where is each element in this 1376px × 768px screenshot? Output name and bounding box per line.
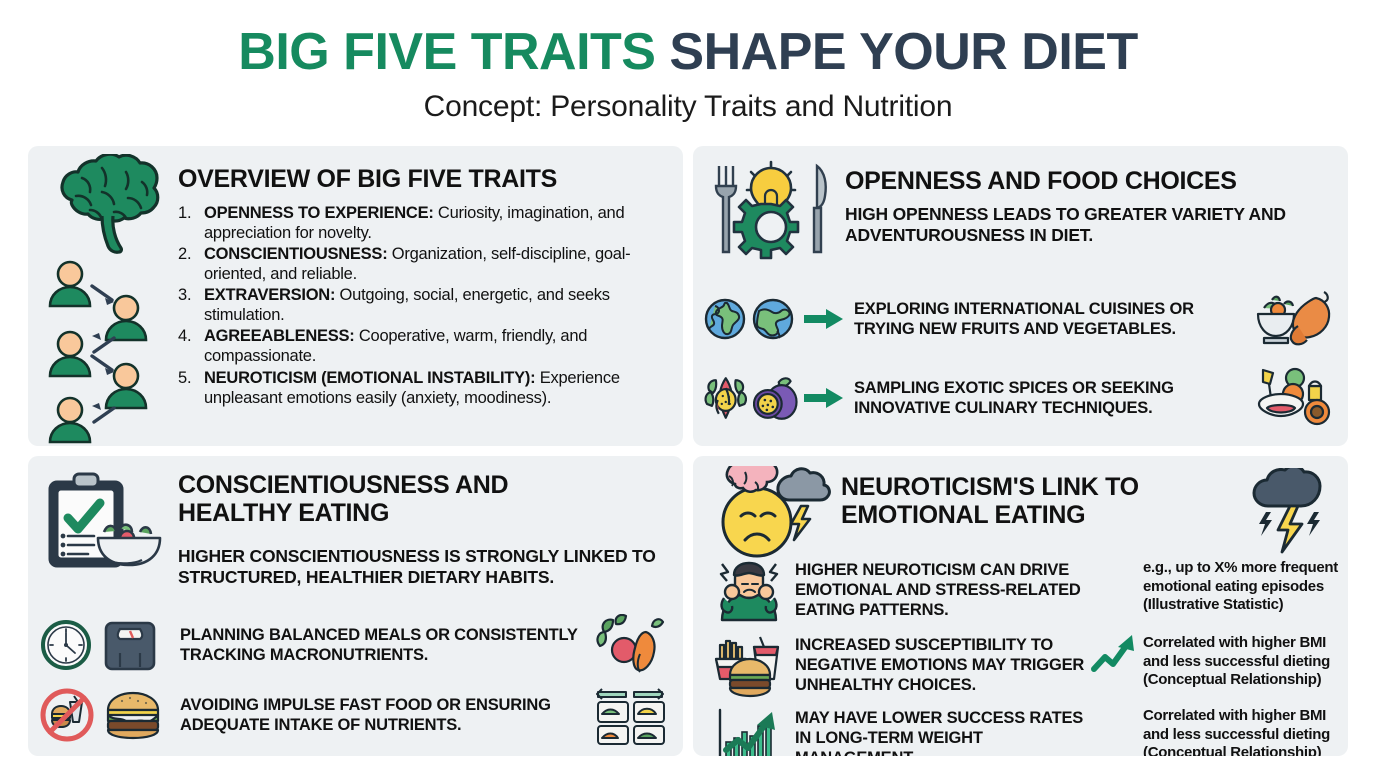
exotic-fruit-pair (703, 374, 798, 422)
conscientiousness-lede: HIGHER CONSCIENTIOUSNESS IS STRONGLY LIN… (178, 546, 669, 589)
passionfruit-icon (753, 374, 799, 422)
header: BIG FIVE TRAITS SHAPE YOUR DIET Concept:… (0, 0, 1376, 124)
fast-food-combo-icon (703, 631, 795, 699)
openness-row-text: EXPLORING INTERNATIONAL CUISINES OR TRYI… (850, 299, 1250, 339)
page-title: BIG FIVE TRAITS SHAPE YOUR DIET (0, 26, 1376, 78)
conscientiousness-row: AVOIDING IMPULSE FAST FOOD OR ENSURING A… (40, 684, 675, 746)
openness-row-text: SAMPLING EXOTIC SPICES OR SEEKING INNOVA… (850, 378, 1250, 418)
trait-name: EXTRAVERSION: (204, 286, 335, 304)
sad-face-brain-storm-icon (703, 466, 833, 564)
panel-overview: OVERVIEW OF BIG FIVE TRAITS OPENNESS TO … (28, 146, 683, 446)
trait-name: OPENNESS TO EXPERIENCE: (204, 204, 434, 222)
list-item: AGREEABLENESS: Cooperative, warm, friend… (178, 326, 673, 366)
neuroticism-row-note: Correlated with higher BMI and less succ… (1143, 704, 1340, 756)
globe-europe-africa-icon (751, 297, 795, 341)
neuroticism-row-note: e.g., up to X% more frequent emotional e… (1143, 556, 1340, 615)
fork-bulb-gear-knife-icon (705, 158, 837, 262)
page-subtitle: Concept: Personality Traits and Nutritio… (0, 90, 1376, 124)
title-green-part: BIG FIVE TRAITS (238, 23, 655, 81)
list-item: OPENNESS TO EXPERIENCE: Curiosity, imagi… (178, 203, 673, 243)
clipboard-checklist-salad-icon (42, 470, 164, 570)
brain-icon (42, 154, 170, 254)
trend-up-arrow-icon (1085, 631, 1143, 673)
clock-scale-pair (40, 619, 180, 671)
panel-conscientiousness: CONSCIENTIOUSNESS AND HEALTHY EATING HIG… (28, 456, 683, 756)
dragonfruit-icon (703, 374, 749, 422)
conscientiousness-heading: CONSCIENTIOUSNESS AND HEALTHY EATING (178, 472, 673, 527)
infographic-page: BIG FIVE TRAITS SHAPE YOUR DIET Concept:… (0, 0, 1376, 768)
neuroticism-row-text: HIGHER NEUROTICISM CAN DRIVE EMOTIONAL A… (795, 556, 1085, 620)
weight-scale-icon (102, 619, 158, 671)
people-network-icon (42, 258, 170, 446)
conscientiousness-row-text: AVOIDING IMPULSE FAST FOOD OR ENSURING A… (180, 695, 589, 735)
overview-heading: OVERVIEW OF BIG FIVE TRAITS (178, 166, 673, 194)
burger-icon (104, 690, 162, 740)
neuroticism-row: HIGHER NEUROTICISM CAN DRIVE EMOTIONAL A… (703, 556, 1340, 624)
arrow-right-icon (798, 308, 850, 330)
neuroticism-heading: NEUROTICISM'S LINK TO EMOTIONAL EATING (841, 474, 1261, 529)
clock-icon (40, 619, 92, 671)
openness-lede-strong: HIGH OPENNESS (845, 204, 988, 224)
trait-name: CONSCIENTIOUSNESS: (204, 245, 387, 263)
nofastfood-burger-pair (40, 688, 180, 742)
neuroticism-row: MAY HAVE LOWER SUCCESS RATES IN LONG-TER… (703, 704, 1340, 756)
openness-heading: OPENNESS AND FOOD CHOICES (845, 168, 1340, 196)
meal-prep-containers-icon (589, 684, 675, 746)
panel-openness: OPENNESS AND FOOD CHOICES HIGH OPENNESS … (693, 146, 1348, 446)
arrow-right-icon (798, 387, 850, 409)
neuroticism-row-text: INCREASED SUSCEPTIBILITY TO NEGATIVE EMO… (795, 631, 1085, 695)
growth-chart-icon (703, 704, 795, 756)
globe-pair (703, 297, 798, 341)
heading-line-1: CONSCIENTIOUSNESS AND (178, 472, 673, 500)
conscientiousness-row: PLANNING BALANCED MEALS OR CONSISTENTLY … (40, 614, 675, 676)
list-item: EXTRAVERSION: Outgoing, social, energeti… (178, 285, 673, 325)
heading-line-1: NEUROTICISM'S LINK TO (841, 474, 1261, 502)
openness-row: SAMPLING EXOTIC SPICES OR SEEKING INNOVA… (703, 364, 1340, 432)
trait-name: AGREEABLENESS: (204, 327, 355, 345)
no-fast-food-icon (40, 688, 94, 742)
neuroticism-row: INCREASED SUSCEPTIBILITY TO NEGATIVE EMO… (703, 631, 1340, 699)
overview-icon-column (42, 154, 182, 446)
heading-line-2: EMOTIONAL EATING (841, 502, 1261, 530)
panel-grid: OVERVIEW OF BIG FIVE TRAITS OPENNESS TO … (28, 146, 1348, 756)
stressed-person-icon (703, 556, 795, 624)
openness-lede: HIGH OPENNESS LEADS TO GREATER VARIETY A… (845, 204, 1315, 247)
panel-neuroticism: NEUROTICISM'S LINK TO EMOTIONAL EATING (693, 456, 1348, 756)
neuroticism-row-text: MAY HAVE LOWER SUCCESS RATES IN LONG-TER… (795, 704, 1085, 756)
conscientiousness-row-text: PLANNING BALANCED MEALS OR CONSISTENTLY … (180, 625, 589, 665)
neuroticism-row-note: Correlated with higher BMI and less succ… (1143, 631, 1340, 690)
openness-row: EXPLORING INTERNATIONAL CUISINES OR TRYI… (703, 286, 1340, 352)
trait-name: NEUROTICISM (EMOTIONAL INSTABILITY): (204, 369, 535, 387)
globe-americas-icon (703, 297, 747, 341)
list-item: CONSCIENTIOUSNESS: Organization, self-di… (178, 244, 673, 284)
title-navy-part: SHAPE YOUR DIET (669, 23, 1137, 81)
heading-line-2: HEALTHY EATING (178, 500, 673, 528)
overview-body: OVERVIEW OF BIG FIVE TRAITS OPENNESS TO … (178, 166, 673, 409)
buffet-platter-icon (1250, 364, 1340, 432)
list-item: NEUROTICISM (EMOTIONAL INSTABILITY): Exp… (178, 368, 673, 408)
salad-and-roast-chicken-icon (1250, 286, 1340, 352)
thunderstorm-cloud-icon (1246, 468, 1334, 554)
trait-list: OPENNESS TO EXPERIENCE: Curiosity, imagi… (178, 203, 673, 408)
fresh-vegetables-icon (589, 614, 675, 676)
